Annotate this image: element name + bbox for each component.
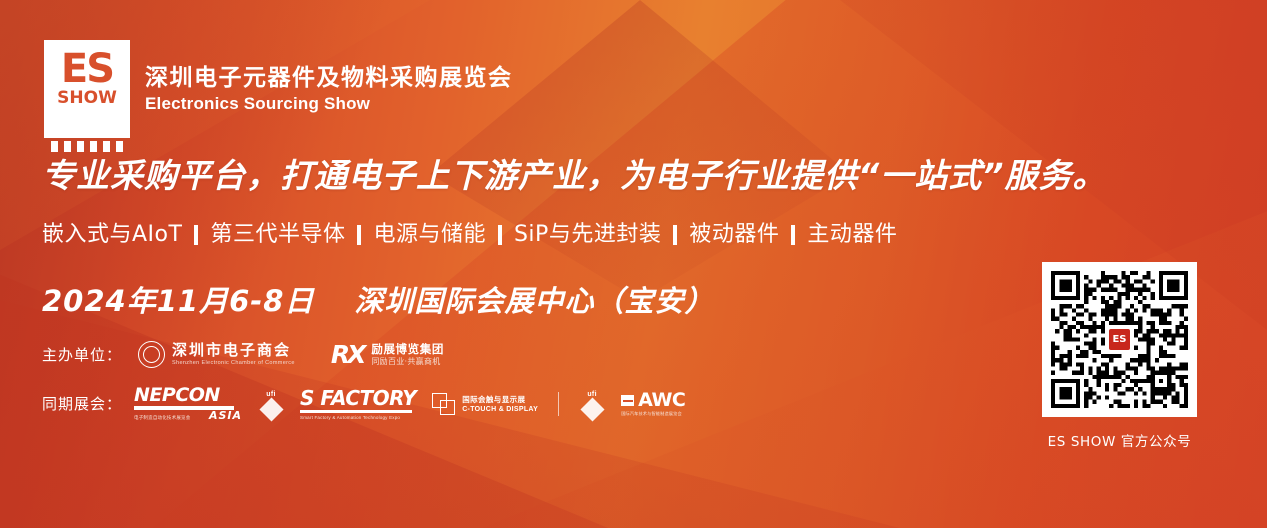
category-item-5[interactable]: 被动器件 [689, 220, 779, 250]
ctouch-name-en: C-TOUCH & DISPLAY [462, 405, 538, 414]
category-strip: 嵌入式与AIoT 第三代半导体 电源与储能 SiP与先进封装 被动器件 主动器件 [42, 220, 897, 250]
logo-mark-show: SHOW [57, 90, 117, 107]
qr-caption: ES SHOW 官方公众号 [1042, 433, 1197, 451]
sfactory-rule-icon [300, 410, 412, 413]
sfactory-name: S FACTORY [300, 388, 416, 408]
logo-divider [558, 392, 559, 416]
event-banner: ES SHOW 深圳电子元器件及物料采购展览会 Electronics Sour… [0, 0, 1267, 528]
brand-logo-lockup[interactable]: ES SHOW 深圳电子元器件及物料采购展览会 Electronics Sour… [44, 40, 513, 138]
ufi-diamond-icon [259, 397, 283, 421]
ufi-approved-badge-icon: ufi [258, 391, 284, 418]
organizer-secc-name-cn: 深圳市电子商会 [172, 342, 295, 359]
organizer-secc-name-en: Shenzhen Electronic Chamber of Commerce [172, 359, 295, 367]
nepcon-region: ASIA [209, 410, 242, 422]
logo-dashes-icon [51, 141, 123, 152]
headline-slogan: 专业采购平台，打通电子上下游产业，为电子行业提供“一站式”服务。 [42, 156, 1107, 196]
concurrent-logo-awc[interactable]: AWC 国际汽车技术与智能制造展览会 [621, 391, 685, 417]
category-separator-icon [498, 225, 502, 245]
qr-center-logo-text: ES [1109, 329, 1130, 350]
ctouch-name-cn: 国际会触与显示展 [462, 395, 538, 405]
category-item-4[interactable]: SiP与先进封装 [514, 220, 661, 250]
organizer-rx-name-cn: 励展博览集团 [371, 342, 444, 356]
category-item-6[interactable]: 主动器件 [807, 220, 897, 250]
qr-center-logo-icon: ES [1106, 326, 1134, 354]
organizer-label: 主办单位： [42, 345, 122, 365]
organizer-row: 主办单位： 深圳市电子商会 Shenzhen Electronic Chambe… [42, 341, 444, 368]
brand-title-en: Electronics Sourcing Show [145, 93, 513, 115]
event-date-venue: 2024年11月6-8日 深圳国际会展中心（宝安） [42, 283, 714, 319]
concurrent-logo-ctouch[interactable]: 国际会触与显示展 C-TOUCH & DISPLAY [432, 393, 538, 415]
concurrent-shows-row: 同期展会： NEPCON 电子制造自动化技术展览会 ASIA ufi S FAC… [42, 386, 685, 422]
category-separator-icon [194, 225, 198, 245]
nepcon-name: NEPCON [134, 386, 220, 405]
category-separator-icon [791, 225, 795, 245]
ctouch-squares-icon [432, 393, 456, 415]
organizer-logo-secc[interactable]: 深圳市电子商会 Shenzhen Electronic Chamber of C… [138, 341, 295, 368]
organizer-logo-rx[interactable]: RX 励展博览集团 同励百业·共赢商机 [331, 342, 444, 367]
rx-mark-icon: RX [331, 342, 364, 367]
awc-name: AWC [638, 391, 685, 410]
brand-title-cn: 深圳电子元器件及物料采购展览会 [145, 64, 513, 93]
organizer-rx-tagline: 同励百业·共赢商机 [371, 356, 444, 367]
es-show-logo-icon: ES SHOW [44, 40, 130, 138]
category-item-1[interactable]: 嵌入式与AIoT [42, 220, 182, 250]
concurrent-logo-nepcon[interactable]: NEPCON 电子制造自动化技术展览会 ASIA [134, 386, 242, 422]
ufi-diamond-icon-2 [580, 397, 604, 421]
qr-code-block[interactable]: ES ES SHOW 官方公众号 [1042, 262, 1197, 451]
category-item-3[interactable]: 电源与储能 [373, 220, 486, 250]
nepcon-tagline: 电子制造自动化技术展览会 [134, 414, 190, 421]
concurrent-label: 同期展会： [42, 394, 122, 414]
sfactory-tagline: Smart Factory & Automation Technology Ex… [300, 414, 400, 421]
awc-tagline: 国际汽车技术与智能制造展览会 [621, 410, 682, 417]
category-item-2[interactable]: 第三代半导体 [210, 220, 345, 250]
qr-code-card[interactable]: ES [1042, 262, 1197, 417]
category-separator-icon [357, 225, 361, 245]
concurrent-logo-sfactory[interactable]: S FACTORY Smart Factory & Automation Tec… [300, 388, 416, 421]
category-separator-icon [673, 225, 677, 245]
chamber-seal-icon [138, 341, 165, 368]
ufi-approved-badge-icon-2: ufi [579, 391, 605, 418]
awc-square-icon [621, 395, 634, 406]
event-venue: 深圳国际会展中心（宝安） [354, 283, 714, 319]
logo-mark-es: ES [61, 49, 113, 89]
event-date: 2024年11月6-8日 [42, 283, 314, 319]
brand-title-block: 深圳电子元器件及物料采购展览会 Electronics Sourcing Sho… [145, 64, 513, 115]
